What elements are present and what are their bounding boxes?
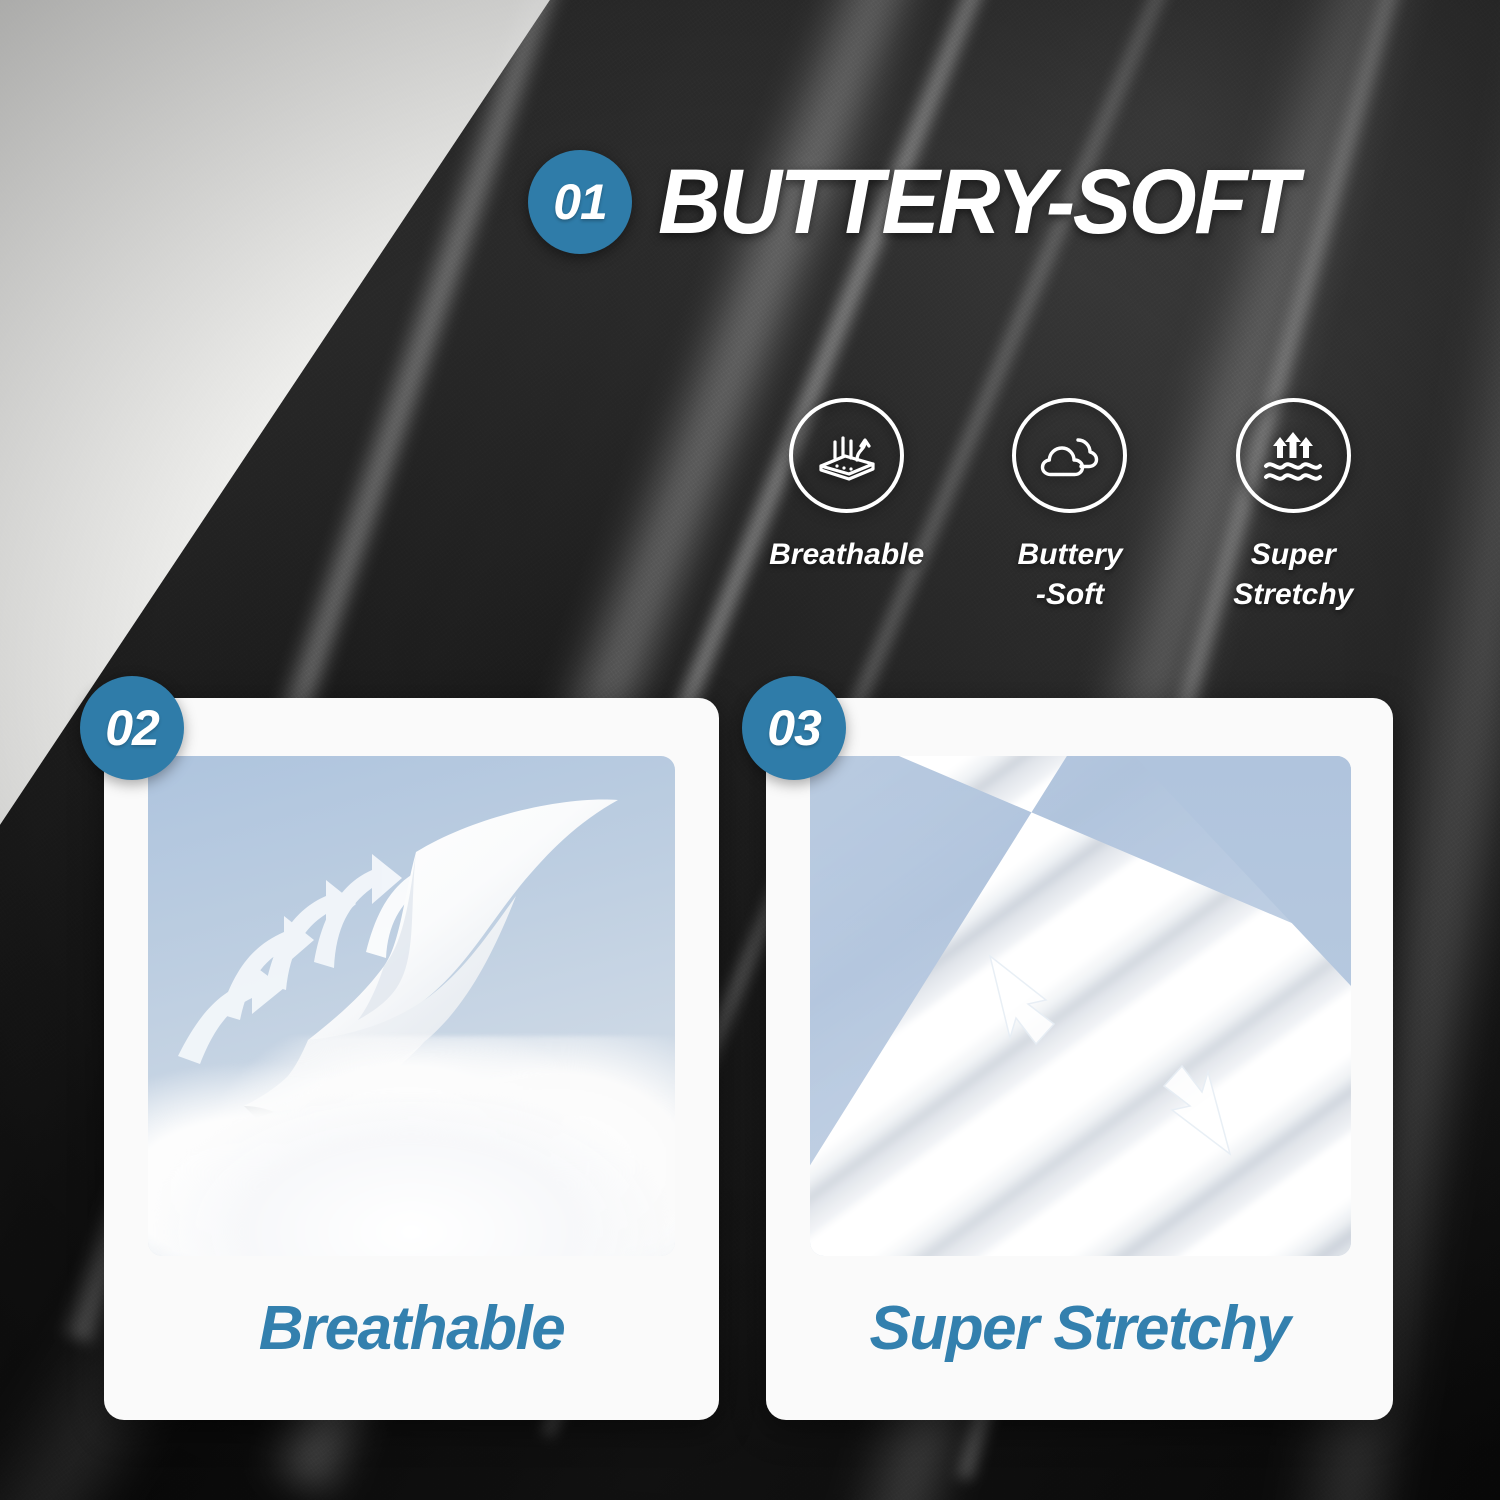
feature-buttery-soft-label: Buttery -Soft xyxy=(1017,535,1122,615)
step-badge-01: 01 xyxy=(528,150,632,254)
feature-breathable-label: Breathable xyxy=(769,535,924,575)
super-stretchy-caption: Super Stretchy xyxy=(766,1293,1393,1364)
feature-buttery-soft: Buttery -Soft xyxy=(958,398,1181,615)
stretch-arrows-icon xyxy=(810,756,1351,1256)
breathable-fabric-icon xyxy=(789,398,904,513)
breathable-photo xyxy=(148,756,675,1256)
step-badge-03-label: 03 xyxy=(767,699,821,757)
step-badge-03: 03 xyxy=(742,676,846,780)
feature-super-stretchy-label: Super Stretchy xyxy=(1233,535,1353,615)
page-title: BUTTERY-SOFT xyxy=(658,156,1296,248)
step-badge-01-label: 01 xyxy=(553,173,607,231)
headline-row: 01 BUTTERY-SOFT xyxy=(528,150,1330,254)
feature-card-breathable[interactable]: 02 xyxy=(104,698,719,1420)
product-feature-infographic: 01 BUTTERY-SOFT Breathable xyxy=(0,0,1500,1500)
breathable-caption: Breathable xyxy=(104,1293,719,1364)
step-badge-02: 02 xyxy=(80,676,184,780)
feature-card-super-stretchy[interactable]: 03 Super Stretchy xyxy=(766,698,1393,1420)
feature-icon-row: Breathable Buttery -Soft xyxy=(735,398,1405,615)
fiberfill-cloud-base xyxy=(159,1096,665,1256)
feature-breathable: Breathable xyxy=(735,398,958,615)
stretchy-photo xyxy=(810,756,1351,1256)
feature-super-stretchy: Super Stretchy xyxy=(1182,398,1405,615)
step-badge-02-label: 02 xyxy=(105,699,159,757)
stretch-waves-icon xyxy=(1236,398,1351,513)
cloud-icon xyxy=(1012,398,1127,513)
